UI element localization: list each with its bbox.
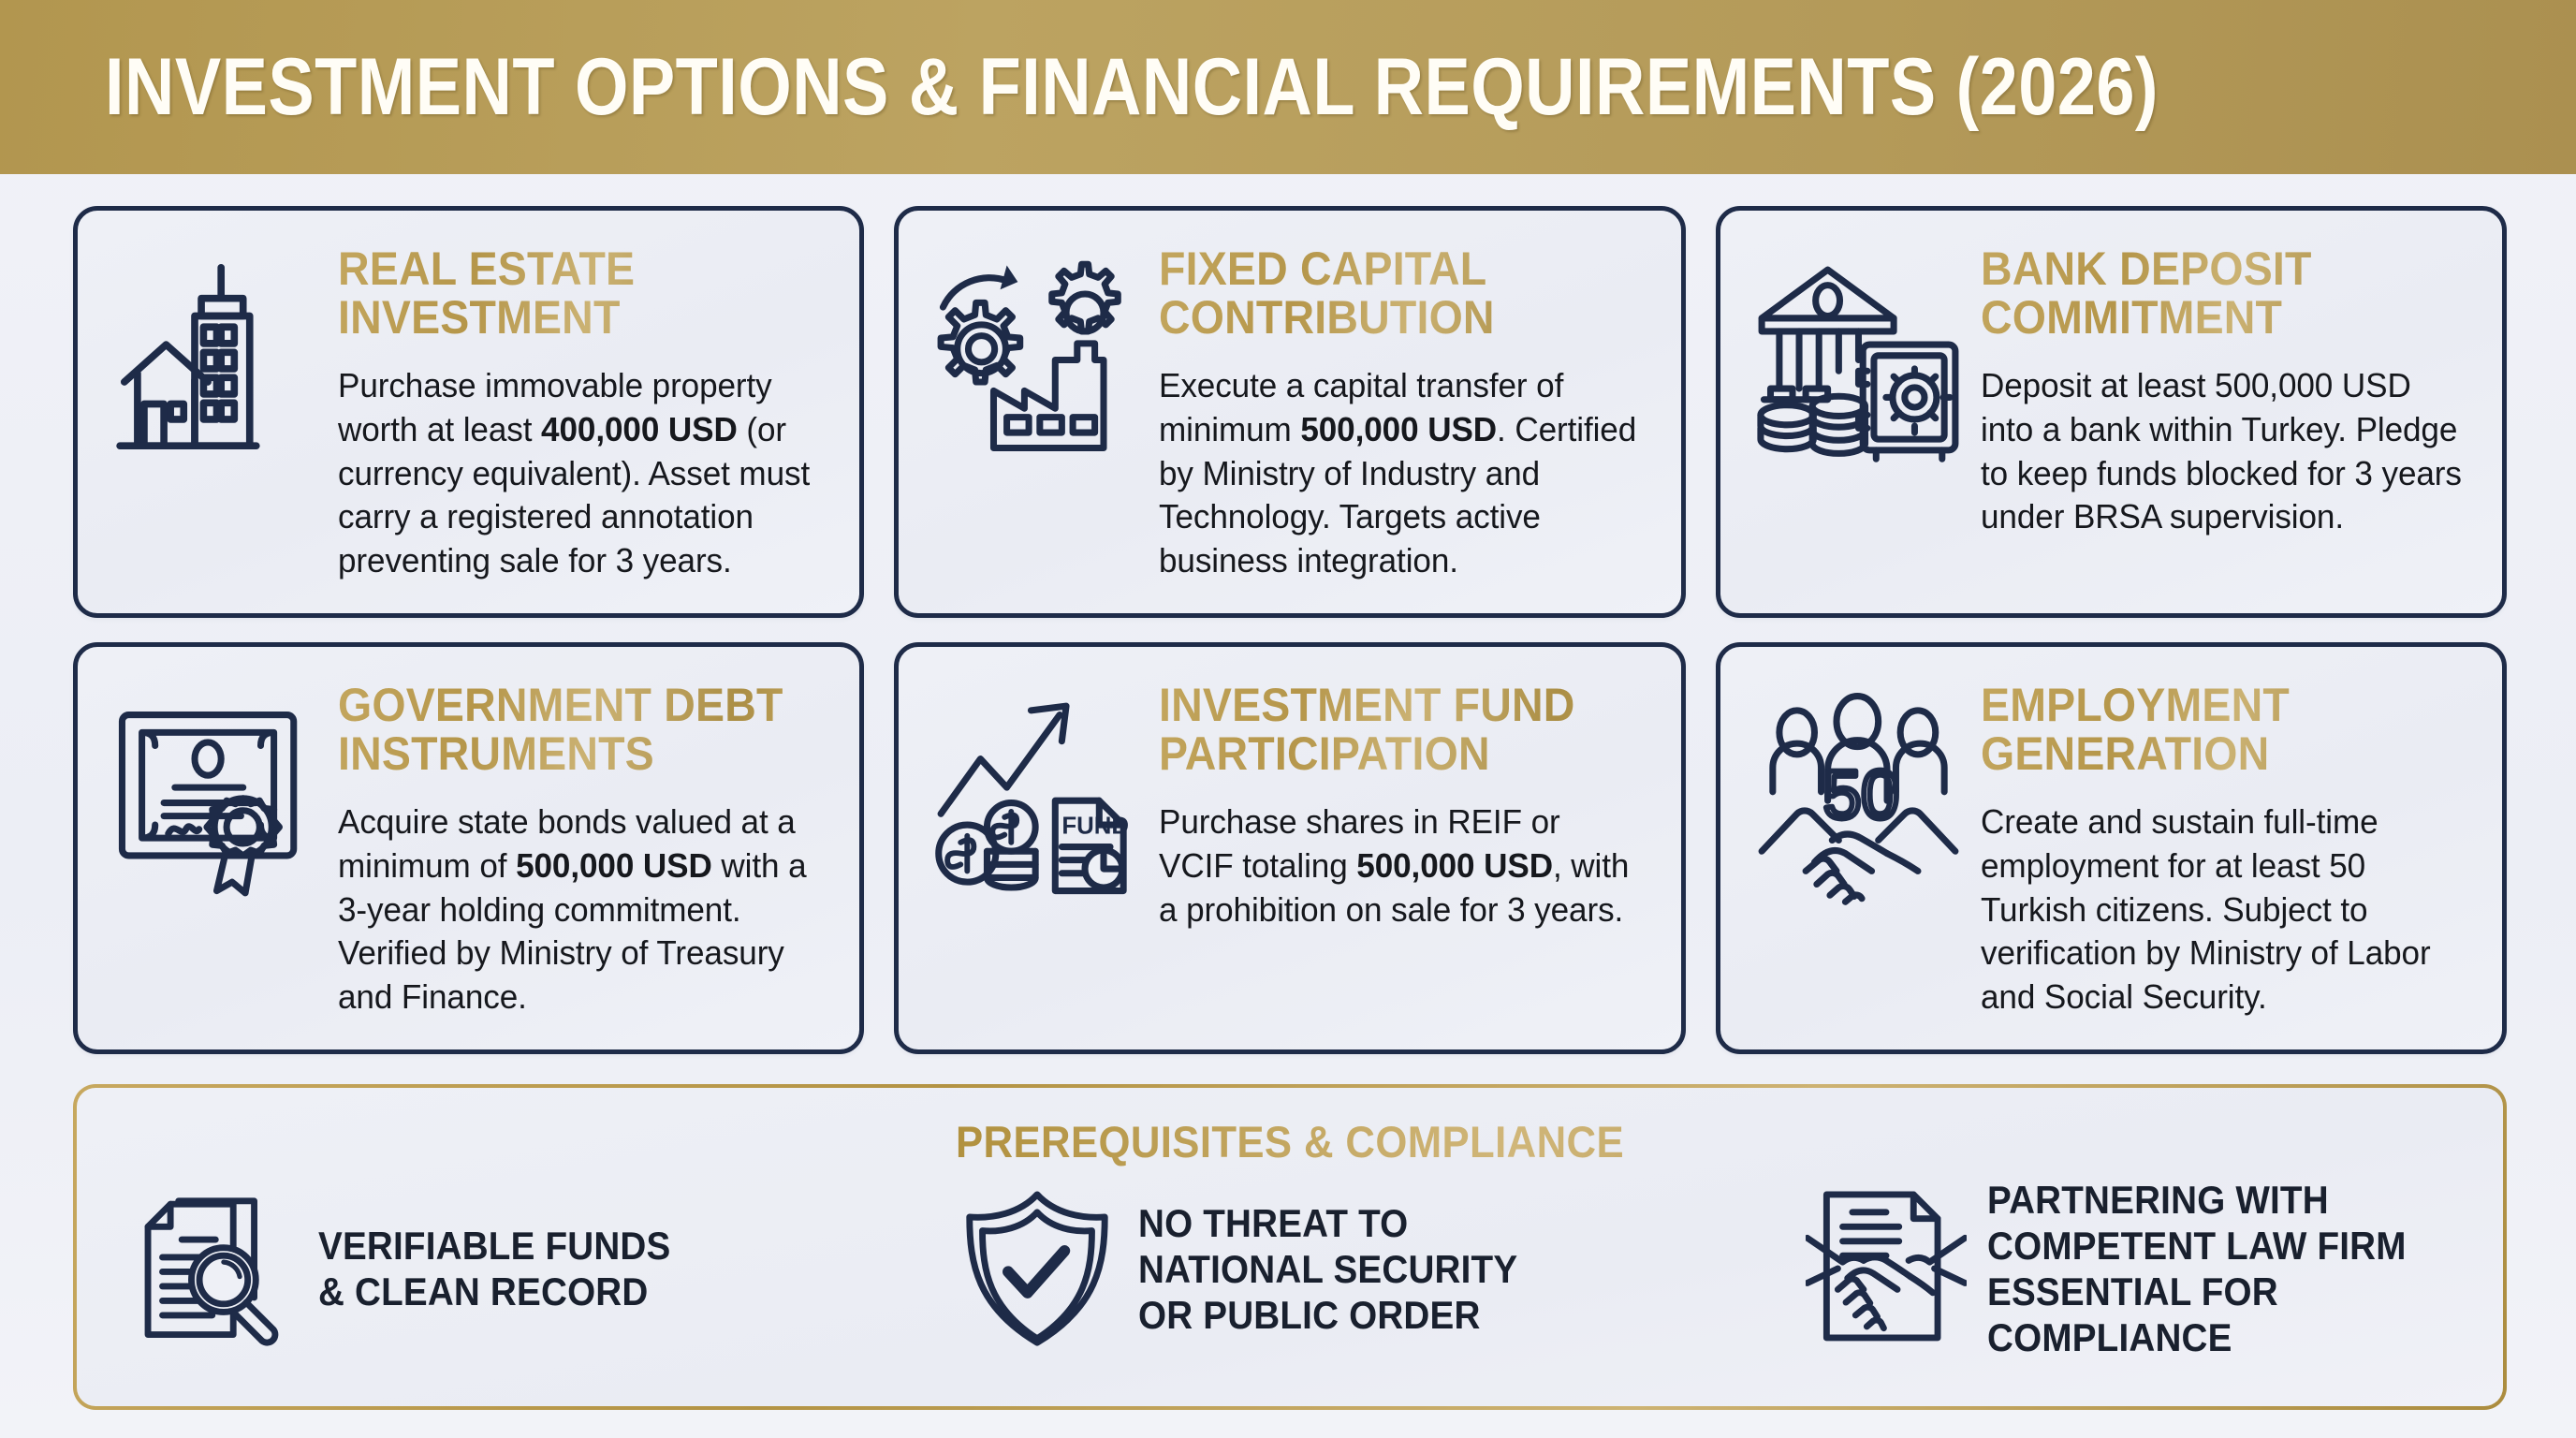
compliance-label-line: OR PUBLIC ORDER [1138, 1292, 1517, 1338]
compliance-item-label: NO THREAT TO NATIONAL SECURITY OR PUBLIC… [1138, 1200, 1517, 1338]
card-description: Purchase shares in REIF or VCIF totaling… [1159, 800, 1640, 932]
card-title: GOVERNMENT DEBT INSTRUMENTS [338, 681, 797, 778]
compliance-label-line: ESSENTIAL FOR [1987, 1269, 2407, 1314]
compliance-section-title: PREREQUISITES & COMPLIANCE [188, 1116, 2393, 1167]
compliance-label-line: PARTNERING WITH [1987, 1177, 2407, 1223]
compliance-label-line: VERIFIABLE FUNDS [318, 1223, 670, 1269]
card-employment-generation[interactable]: 50 EMPLOYMENT GENERATION Create and sust… [1716, 642, 2507, 1054]
compliance-label-line: COMPETENT LAW FIRM [1987, 1223, 2407, 1269]
compliance-item-label: PARTNERING WITH COMPETENT LAW FIRM ESSEN… [1987, 1177, 2407, 1361]
document-magnifier-icon [137, 1186, 298, 1351]
card-description: Deposit at least 500,000 USD into a bank… [1981, 364, 2462, 539]
page-title: INVESTMENT OPTIONS & FINANCIAL REQUIREME… [105, 41, 2159, 134]
card-title: REAL ESTATE INVESTMENT [338, 244, 797, 342]
compliance-item-label: VERIFIABLE FUNDS & CLEAN RECORD [318, 1223, 670, 1314]
infographic-page: INVESTMENT OPTIONS & FINANCIAL REQUIREME… [0, 0, 2576, 1438]
compliance-item-no-threat[interactable]: NO THREAT TO NATIONAL SECURITY OR PUBLIC… [957, 1186, 1551, 1351]
certificate-with-seal-icon [95, 669, 338, 950]
compliance-items-row: VERIFIABLE FUNDS & CLEAN RECORD NO THREA… [105, 1177, 2475, 1361]
house-and-building-icon [95, 233, 338, 514]
compliance-label-line: NATIONAL SECURITY [1138, 1246, 1517, 1292]
card-title: BANK DEPOSIT COMMITMENT [1981, 244, 2439, 342]
people-handshake-fifty-icon: 50 [1737, 669, 1981, 950]
prerequisites-compliance-panel: PREREQUISITES & COMPLIANCE [73, 1084, 2507, 1410]
compliance-item-verifiable-funds[interactable]: VERIFIABLE FUNDS & CLEAN RECORD [137, 1186, 701, 1351]
card-description: Acquire state bonds valued at a minimum … [338, 800, 819, 1020]
contract-handshake-icon [1806, 1186, 1967, 1351]
compliance-label-line: & CLEAN RECORD [318, 1269, 670, 1314]
investment-options-grid: REAL ESTATE INVESTMENT Purchase immovabl… [73, 206, 2507, 1054]
bank-safe-and-coins-icon [1737, 233, 1981, 514]
shield-check-icon [957, 1186, 1118, 1351]
card-description: Purchase immovable property worth at lea… [338, 364, 819, 583]
compliance-label-line: COMPLIANCE [1987, 1314, 2407, 1360]
card-real-estate-investment[interactable]: REAL ESTATE INVESTMENT Purchase immovabl… [73, 206, 864, 618]
card-description: Execute a capital transfer of minimum 50… [1159, 364, 1640, 583]
card-title: INVESTMENT FUND PARTICIPATION [1159, 681, 1617, 778]
card-title: EMPLOYMENT GENERATION [1981, 681, 2439, 778]
card-government-debt-instruments[interactable]: GOVERNMENT DEBT INSTRUMENTS Acquire stat… [73, 642, 864, 1054]
card-fixed-capital-contribution[interactable]: FIXED CAPITAL CONTRIBUTION Execute a cap… [894, 206, 1685, 618]
gears-and-factory-icon [915, 233, 1159, 514]
compliance-item-law-firm[interactable]: PARTNERING WITH COMPETENT LAW FIRM ESSEN… [1806, 1177, 2443, 1361]
fifty-icon-label: 50 [1823, 757, 1899, 833]
growth-chart-coins-fund-icon: FUND [915, 669, 1159, 950]
card-investment-fund-participation[interactable]: FUND INVESTMENT FUND PARTICIPATION Purch… [894, 642, 1685, 1054]
header-banner: INVESTMENT OPTIONS & FINANCIAL REQUIREME… [0, 0, 2576, 174]
card-title: FIXED CAPITAL CONTRIBUTION [1159, 244, 1617, 342]
card-description: Create and sustain full-time employment … [1981, 800, 2462, 1020]
card-bank-deposit-commitment[interactable]: BANK DEPOSIT COMMITMENT Deposit at least… [1716, 206, 2507, 618]
compliance-label-line: NO THREAT TO [1138, 1200, 1517, 1246]
fund-icon-label: FUND [1061, 813, 1129, 839]
